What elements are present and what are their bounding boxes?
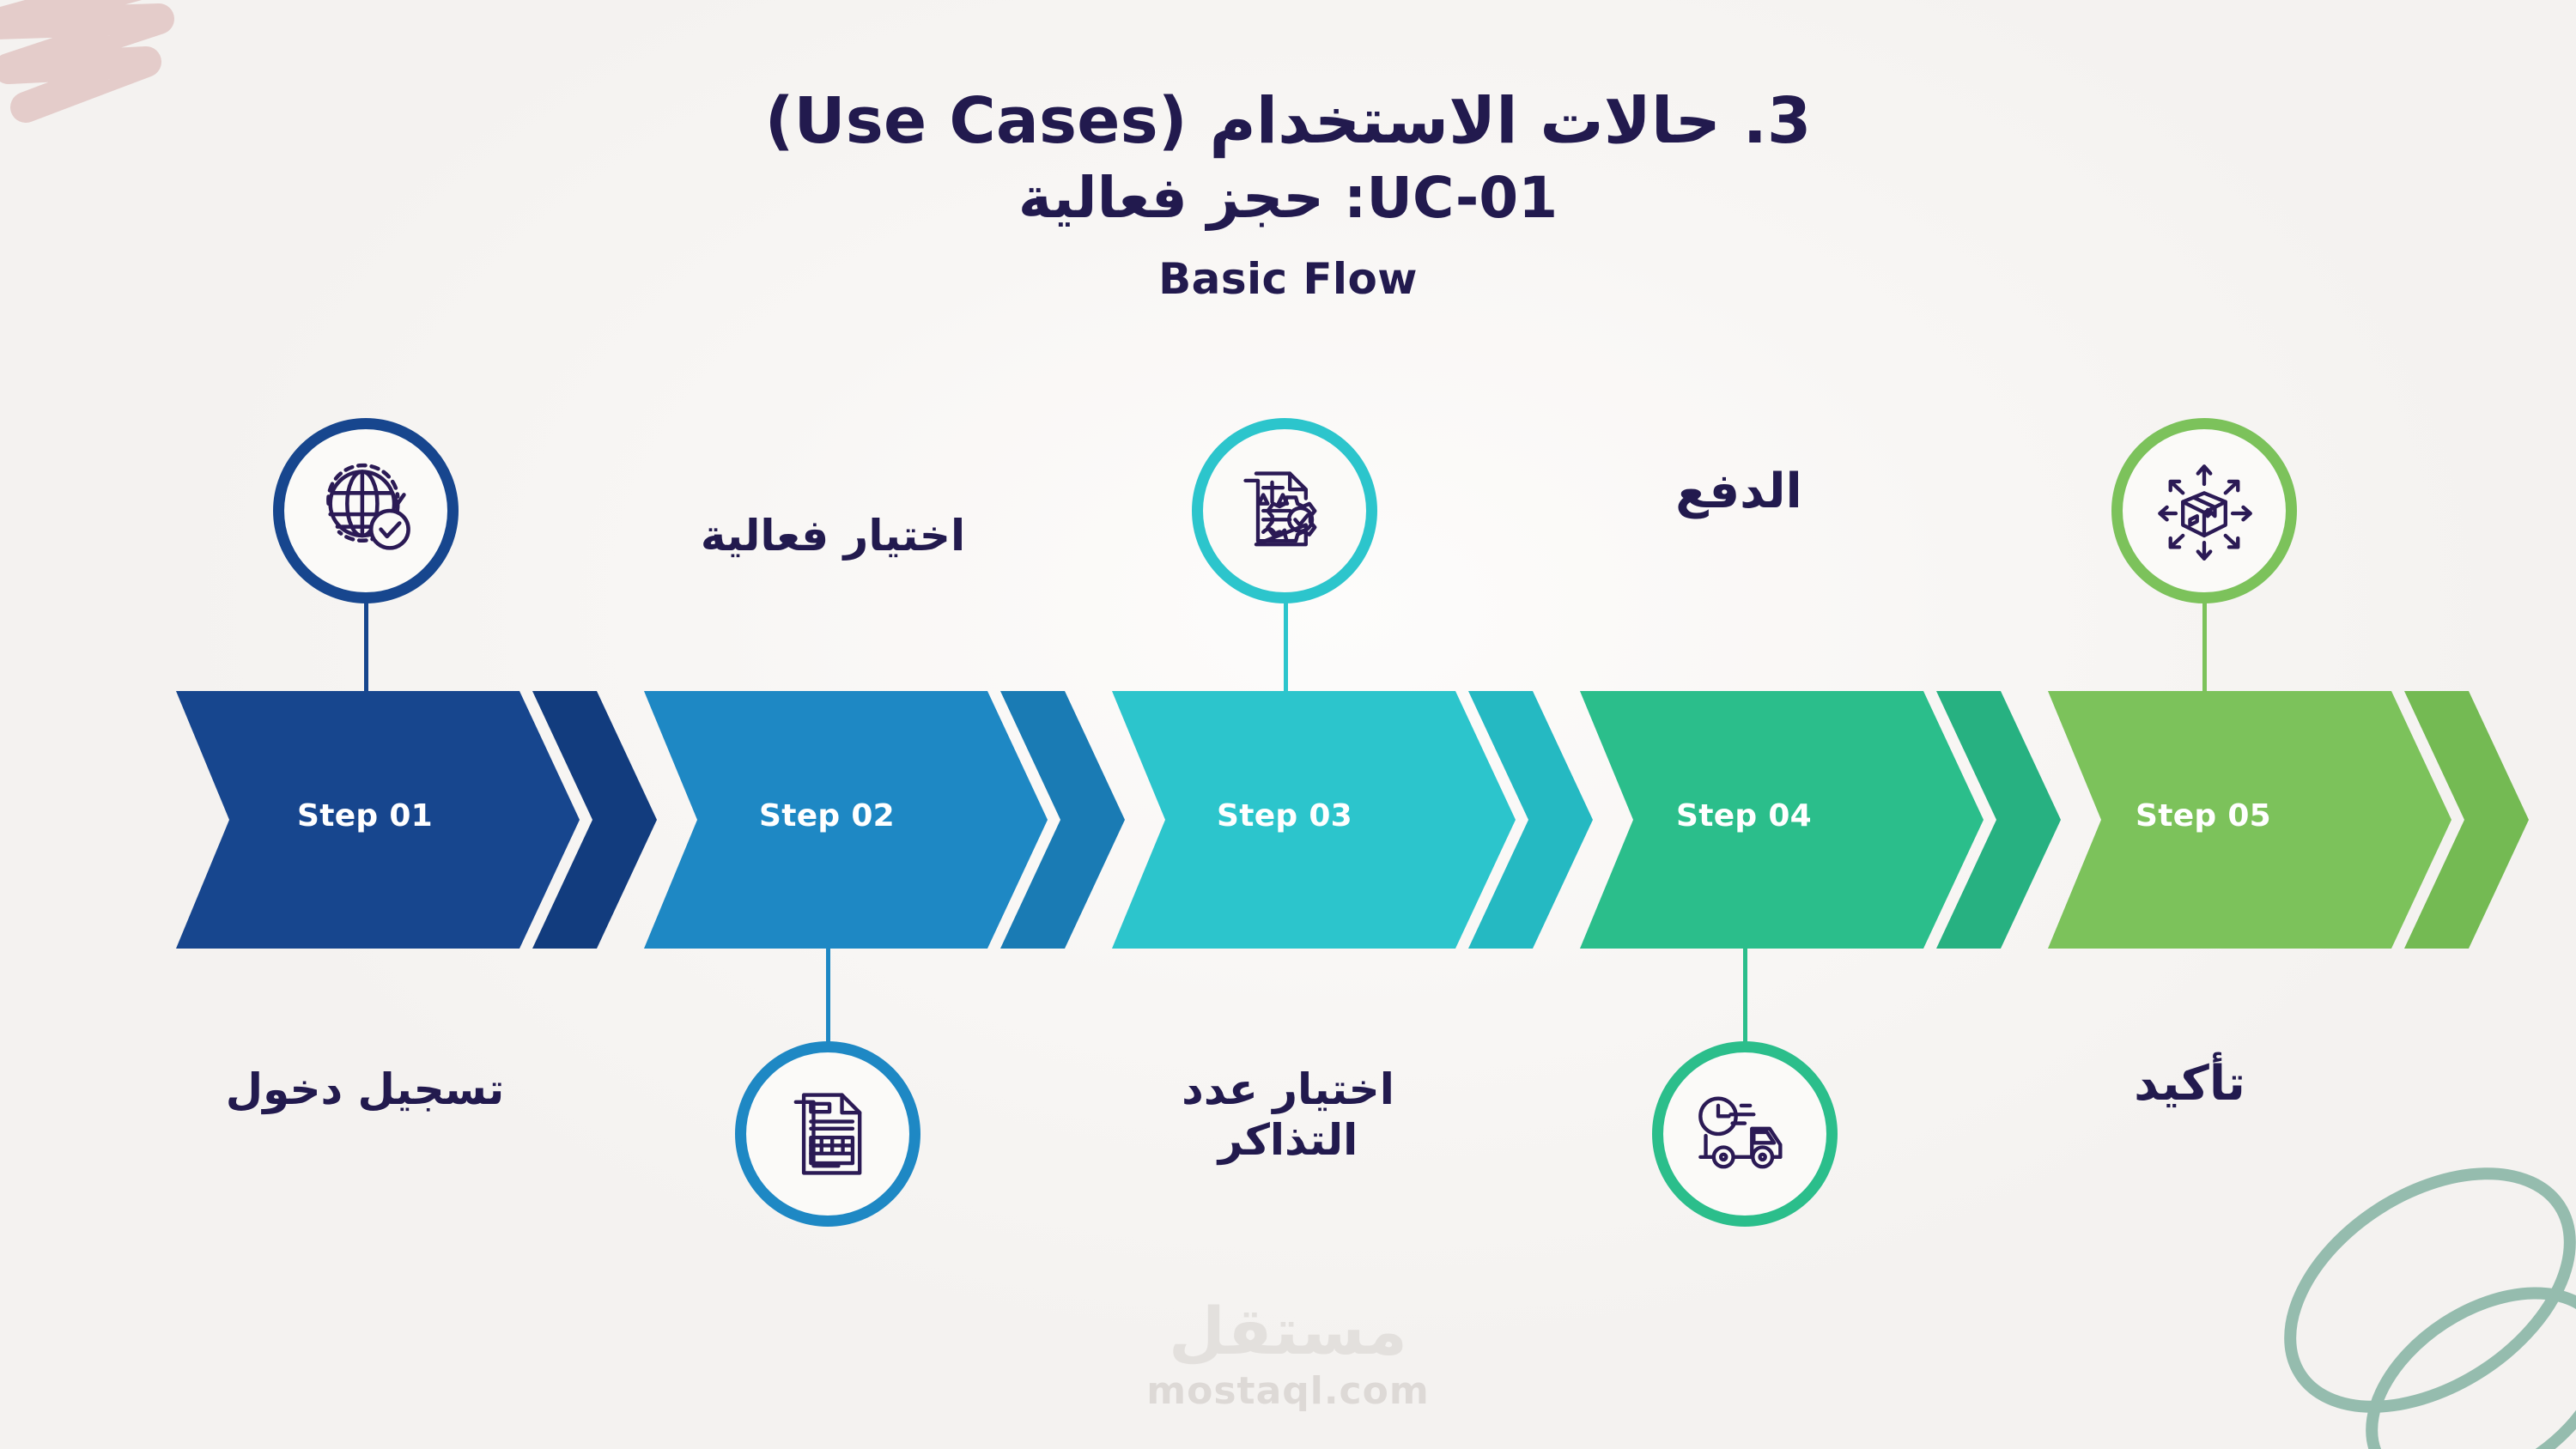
- caption-step-05: تأكيد: [2052, 1056, 2327, 1113]
- page-title: 3. حالات الاستخدام (Use Cases): [0, 82, 2576, 160]
- connector-step-04: [1743, 943, 1747, 1044]
- delivery-truck-clock-icon: [1692, 1081, 1798, 1187]
- icon-bubble-step-03[interactable]: [1192, 418, 1377, 603]
- slide-canvas: 3. حالات الاستخدام (Use Cases) UC-01: حج…: [0, 0, 2576, 1449]
- step-label-04: Step 04: [1589, 798, 1899, 834]
- watermark: مستقل mostaql.com: [1146, 1299, 1429, 1413]
- icon-bubble-step-02[interactable]: [735, 1041, 920, 1227]
- icon-bubble-step-04[interactable]: [1652, 1041, 1838, 1227]
- watermark-arabic: مستقل: [1146, 1299, 1429, 1364]
- contract-gear-icon: [1231, 458, 1338, 564]
- package-arrows-icon: [2151, 458, 2257, 564]
- connector-step-03: [1284, 601, 1288, 695]
- page-subtitle: UC-01: حجز فعالية: [0, 163, 2576, 233]
- icon-bubble-step-05[interactable]: [2111, 418, 2297, 603]
- step-label-02: Step 02: [672, 798, 981, 834]
- connector-step-05: [2202, 601, 2207, 695]
- caption-step-01: تسجيل دخول: [219, 1064, 511, 1115]
- caption-step-03: اختيار عدد التذاكر: [1125, 1064, 1451, 1166]
- connector-step-02: [826, 943, 830, 1044]
- globe-check-icon: [313, 458, 419, 564]
- step-label-05: Step 05: [2049, 798, 2358, 834]
- step-label-03: Step 03: [1130, 798, 1439, 834]
- caption-step-02: اختيار فعالية: [653, 511, 1013, 561]
- step-label-01: Step 01: [210, 798, 519, 834]
- document-calendar-icon: [775, 1081, 881, 1187]
- flow-label: Basic Flow: [0, 254, 2576, 304]
- connector-step-01: [364, 601, 368, 695]
- icon-bubble-step-01[interactable]: [273, 418, 459, 603]
- watermark-latin: mostaql.com: [1146, 1369, 1429, 1413]
- rings-decoration: [2215, 1140, 2576, 1449]
- caption-step-04: الدفع: [1597, 464, 1880, 520]
- title-block: 3. حالات الاستخدام (Use Cases) UC-01: حج…: [0, 82, 2576, 304]
